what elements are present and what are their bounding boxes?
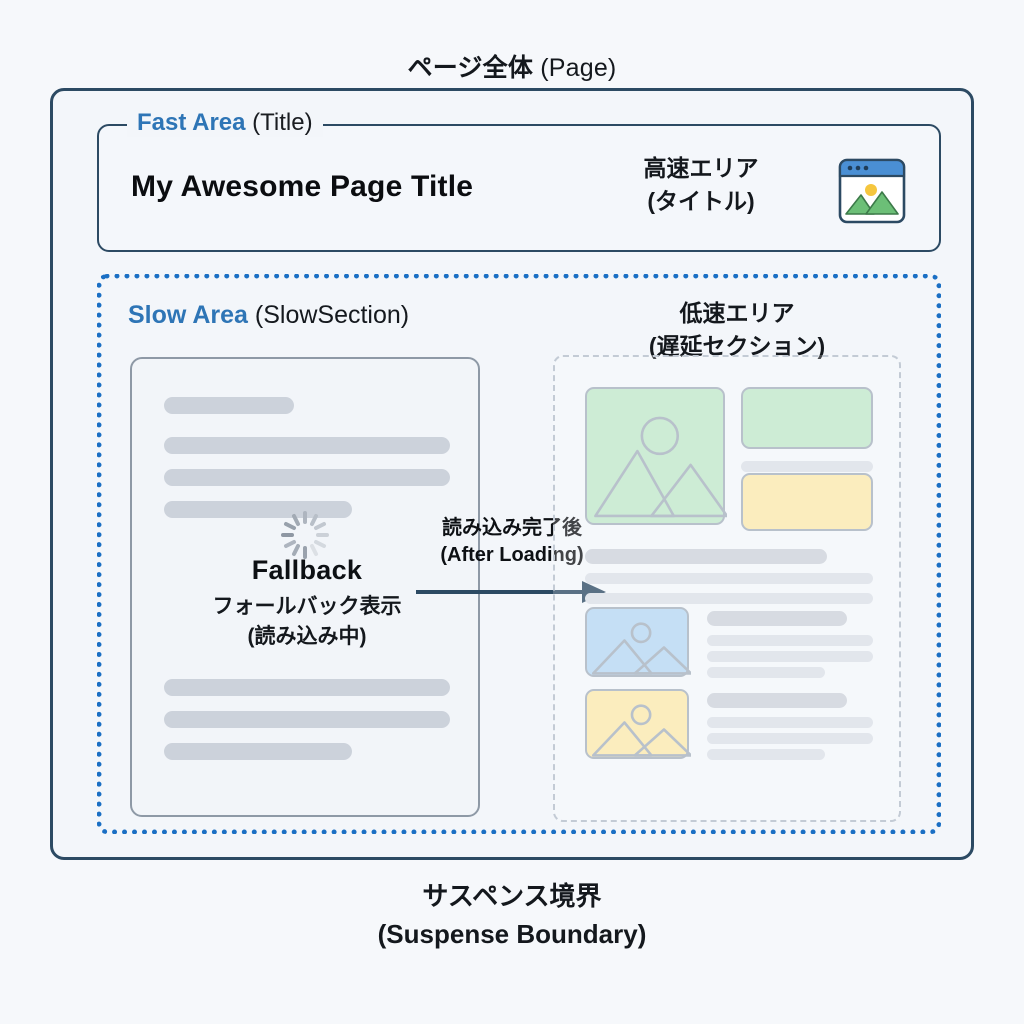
thumb-image-blue — [585, 607, 689, 677]
skeleton-bar — [164, 743, 352, 760]
content-text-line — [707, 635, 873, 646]
fast-area-jp-line1: 高速エリア — [591, 152, 811, 185]
skeleton-bar — [164, 397, 294, 414]
content-text-line — [707, 749, 825, 760]
fast-area-jp-line2: (タイトル) — [591, 185, 811, 218]
skeleton-bar — [164, 711, 450, 728]
content-text-line — [707, 733, 873, 744]
loaded-content-panel — [553, 355, 901, 822]
bottom-caption-jp: サスペンス境界 — [0, 878, 1024, 916]
slow-area-legend-accent: Slow Area — [128, 301, 248, 329]
content-text-line — [707, 667, 825, 678]
fast-area-legend-plain: (Title) — [246, 109, 313, 136]
skeleton-bar — [164, 679, 450, 696]
fast-area-legend-accent: Fast Area — [137, 109, 246, 136]
browser-image-icon — [835, 154, 909, 233]
fast-area-jp-label: 高速エリア (タイトル) — [591, 152, 811, 217]
page-top-caption: ページ全体 (Page) — [0, 48, 1024, 84]
content-text-line — [707, 611, 847, 626]
content-text-line — [707, 717, 873, 728]
slow-area-jp-label: 低速エリア (遅延セクション) — [572, 297, 902, 362]
content-text-line — [585, 549, 827, 564]
skeleton-bar — [164, 437, 450, 454]
green-card-block — [741, 387, 873, 449]
skeleton-bar — [164, 469, 450, 486]
content-text-line — [585, 573, 873, 584]
slow-area-legend-plain: (SlowSection) — [248, 301, 409, 329]
content-text-line — [585, 593, 873, 604]
slow-area-legend: Slow Area (SlowSection) — [128, 301, 409, 330]
fallback-jp-line2: (読み込み中) — [132, 620, 482, 650]
fast-area-box: Fast Area (Title) My Awesome Page Title … — [97, 124, 941, 252]
yellow-card-block — [741, 473, 873, 531]
hero-image-placeholder — [585, 387, 725, 525]
suspense-boundary-caption: サスペンス境界 (Suspense Boundary) — [0, 878, 1024, 953]
diagram-canvas: ページ全体 (Page) Fast Area (Title) My Awesom… — [0, 0, 1024, 1024]
content-text-line — [707, 693, 847, 708]
bottom-caption-en: (Suspense Boundary) — [0, 916, 1024, 954]
page-caption-jp: ページ全体 — [408, 54, 534, 82]
page-caption-en: (Page) — [533, 54, 616, 82]
content-text-line — [741, 461, 873, 472]
content-text-line — [707, 651, 873, 662]
slow-area-jp-line1: 低速エリア — [572, 297, 902, 330]
thumb-image-yellow — [585, 689, 689, 759]
page-title: My Awesome Page Title — [131, 170, 473, 204]
fast-area-legend: Fast Area (Title) — [127, 109, 323, 137]
